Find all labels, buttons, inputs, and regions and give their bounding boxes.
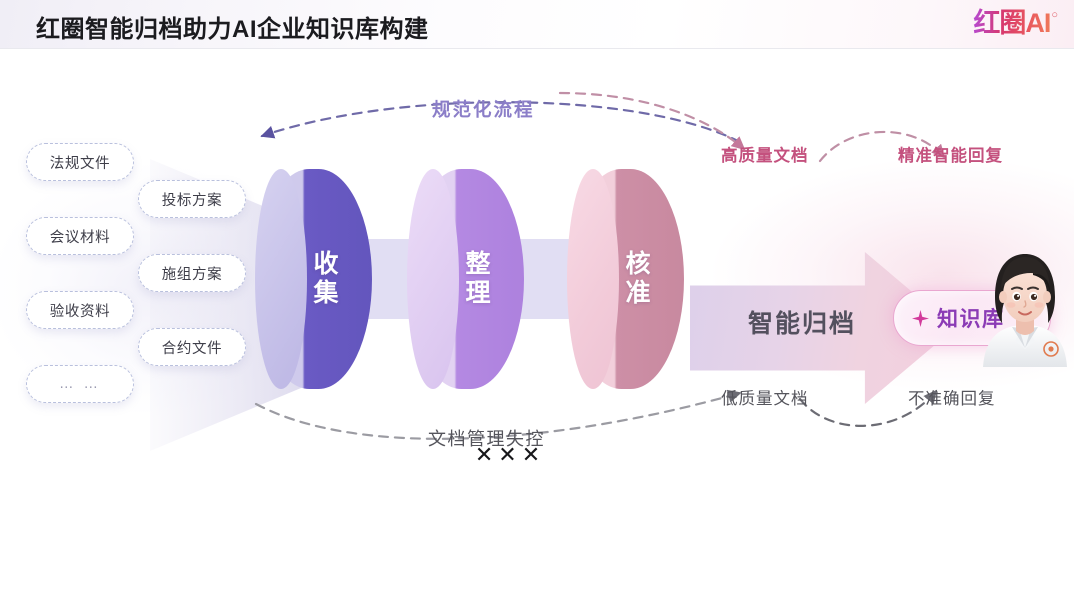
page-title: 红圈智能归档助力AI企业知识库构建 bbox=[36, 9, 429, 44]
label-low-quality-doc: 低质量文档 bbox=[721, 385, 809, 409]
label-doc-management-failure: 文档管理失控 bbox=[428, 425, 545, 451]
source-tag-regulation[interactable]: 法规文件 bbox=[26, 143, 134, 181]
brand-logo-superscript: ○ bbox=[1051, 9, 1058, 21]
diagram-area: 法规文件 投标方案 会议材料 施组方案 验收资料 合约文件 … … 收集 整理 bbox=[0, 49, 1074, 602]
source-tag-construction-plan[interactable]: 施组方案 bbox=[138, 254, 246, 292]
stage-cylinder-approve[interactable]: 核准 bbox=[568, 169, 684, 389]
label-accurate-reply: 精准智能回复 bbox=[898, 142, 1003, 166]
stage-cylinder-collect[interactable]: 收集 bbox=[256, 169, 372, 389]
stage-label-approve: 核准 bbox=[568, 169, 684, 389]
brand-logo-text: 红圈AI bbox=[973, 8, 1050, 38]
stage-cylinder-organize[interactable]: 整理 bbox=[408, 169, 524, 389]
smart-archiving-label: 智能归档 bbox=[707, 304, 897, 340]
ai-assistant-avatar bbox=[975, 249, 1074, 367]
brand-logo: 红圈AI ○ bbox=[973, 8, 1058, 40]
source-tag-bid[interactable]: 投标方案 bbox=[138, 180, 246, 218]
source-tag-acceptance[interactable]: 验收资料 bbox=[26, 291, 134, 329]
source-tag-more[interactable]: … … bbox=[26, 365, 134, 403]
source-tag-contract[interactable]: 合约文件 bbox=[138, 328, 246, 366]
slide-header: 红圈智能归档助力AI企业知识库构建 红圈AI ○ bbox=[0, 0, 1074, 49]
sparkle-icon bbox=[912, 310, 929, 327]
slide-canvas: 红圈智能归档助力AI企业知识库构建 红圈AI ○ 法规文件 投标方案 会议材料 … bbox=[0, 0, 1074, 602]
source-tag-meeting[interactable]: 会议材料 bbox=[26, 217, 134, 255]
label-inaccurate-reply: 不准确回复 bbox=[908, 385, 996, 409]
label-high-quality-doc: 高质量文档 bbox=[721, 142, 809, 166]
stage-label-organize: 整理 bbox=[408, 169, 524, 389]
top-arc-to-highquality bbox=[560, 93, 744, 149]
stage-label-collect: 收集 bbox=[256, 169, 372, 389]
label-standardized-process: 规范化流程 bbox=[432, 96, 535, 122]
